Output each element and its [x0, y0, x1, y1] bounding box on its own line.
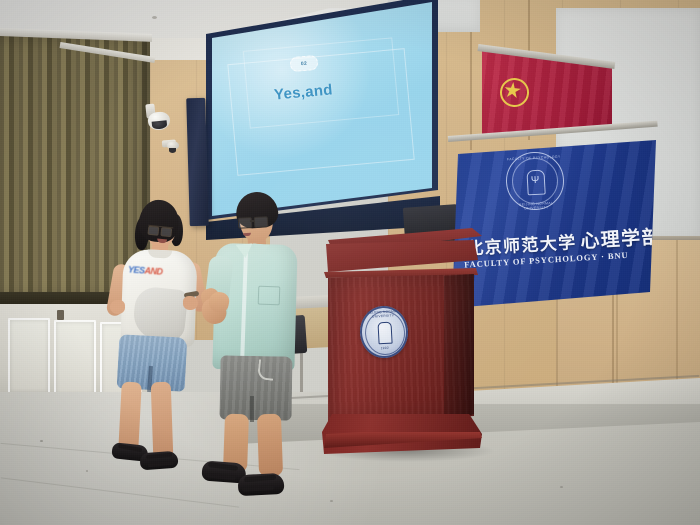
woman-leg-right [151, 382, 174, 459]
woman-leg-left [118, 382, 142, 453]
man-leg-right [257, 414, 283, 477]
tshirt-graphic-left: YES [128, 264, 145, 275]
man-lens-right [254, 216, 269, 228]
man-shorts-seam [250, 396, 254, 422]
woman-lens-left [147, 226, 159, 236]
woman-glasses-icon [148, 225, 174, 236]
podium-side-panel [444, 274, 474, 426]
department-banner: FACULTY OF PSYCHOLOGY Ψ BEIJING NORMAL U… [452, 140, 656, 308]
ceiling-sprinkler [152, 16, 157, 19]
podium: BEIJING NORMAL UNIVERSITY 1902 [322, 228, 482, 454]
lecture-hall-photo: 02 Yes,and FACULTY OF PSYCHOLOGY Ψ BEIJI… [0, 0, 700, 525]
tshirt-graphic-right: AND [144, 266, 163, 277]
woman-lens-right [160, 227, 172, 237]
podium-slanted-desktop [326, 240, 478, 272]
bullet-camera-lens [169, 148, 176, 153]
wall-panel [54, 320, 96, 396]
floor-speckle [40, 440, 43, 442]
wall-panel [8, 318, 50, 394]
woman-hand-left [110, 300, 125, 314]
floor-speckle [86, 470, 88, 472]
slide-number-text: 02 [301, 60, 308, 67]
floor-speckle [560, 486, 563, 488]
man-lens-left [238, 217, 253, 229]
man-cargo-shorts [219, 355, 292, 420]
floor-speckle [330, 500, 333, 502]
door-handle[interactable] [57, 310, 64, 320]
psi-icon: Ψ [531, 176, 540, 186]
man-shirt-pocket [258, 286, 281, 306]
projection-screen: 02 Yes,and [212, 0, 432, 220]
wall-speaker [186, 98, 209, 226]
man-glasses-icon [238, 216, 268, 227]
podium-seal-bell-icon [377, 322, 392, 345]
woman-hand-right [183, 296, 198, 310]
